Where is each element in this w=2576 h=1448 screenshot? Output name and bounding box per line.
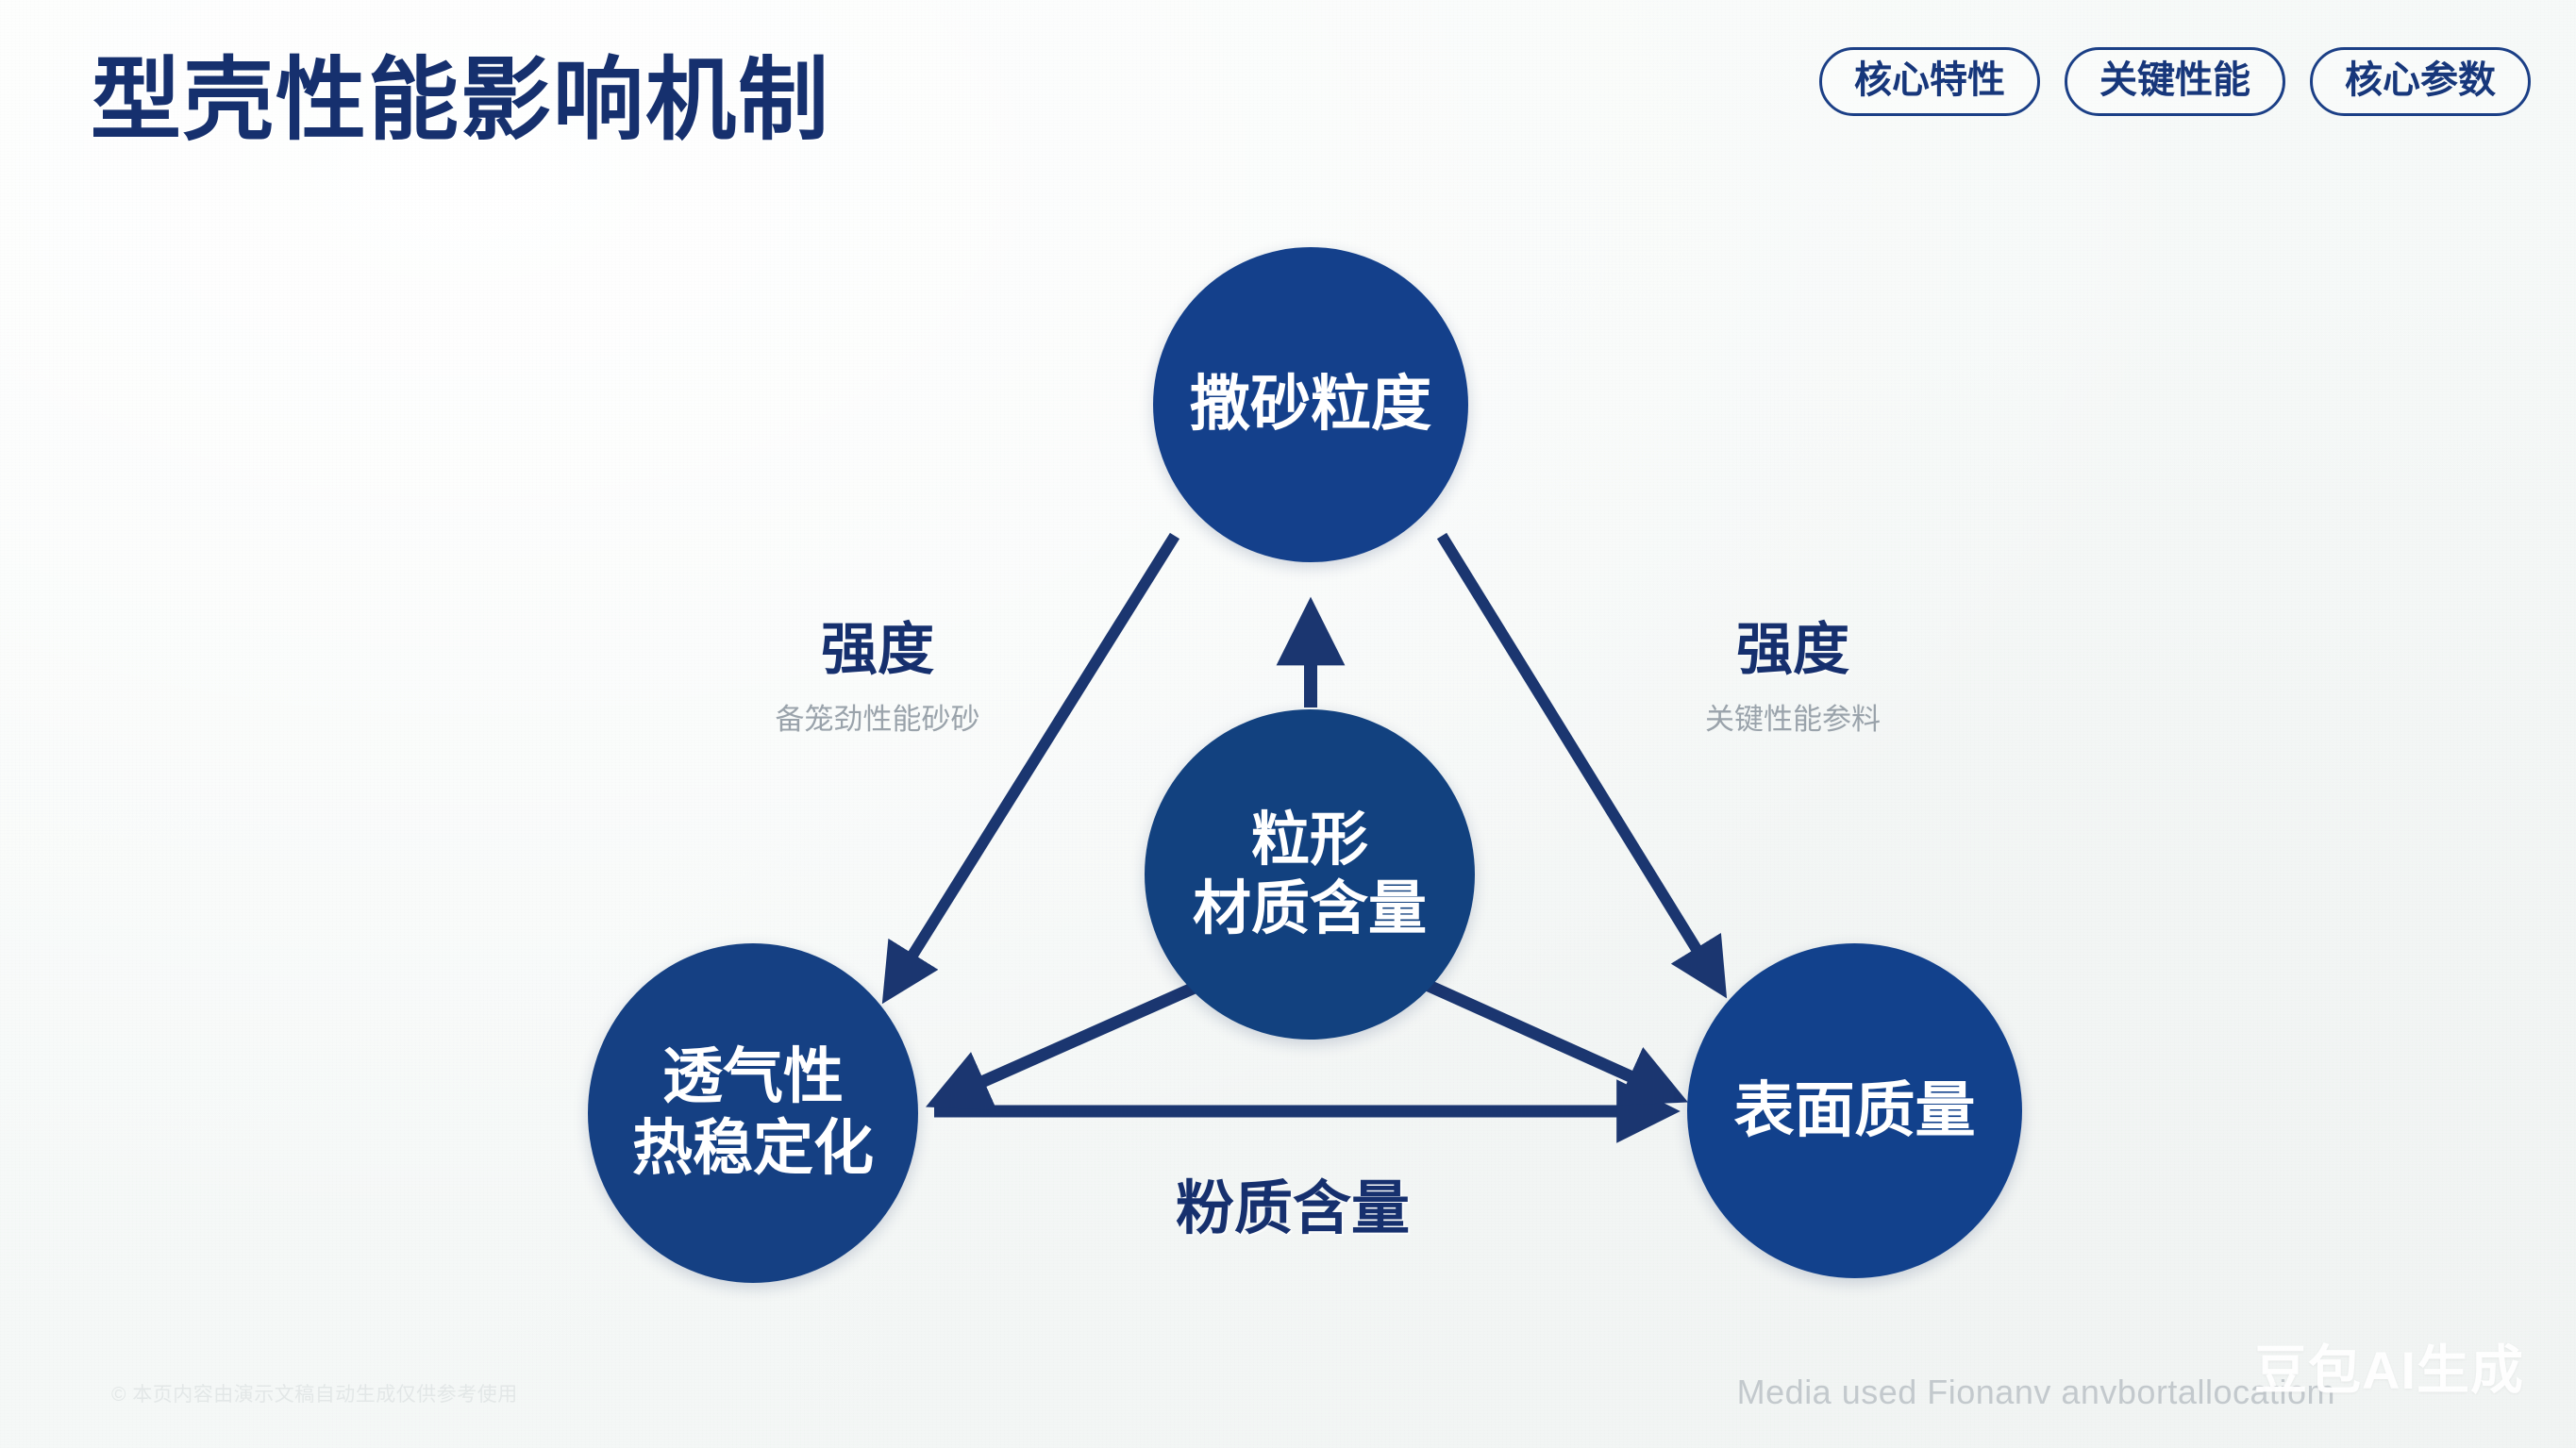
node-left-line-2: 热稳定化 bbox=[632, 1113, 874, 1185]
edge-label-left-main: 强度 bbox=[698, 604, 1057, 686]
copyright-notice: © 本页内容由演示文稿自动生成仅供参考使用 bbox=[111, 1379, 518, 1407]
ai-generated-watermark: 豆包AI生成 bbox=[2254, 1328, 2524, 1405]
node-top-line-1: 撒砂粒度 bbox=[1190, 369, 1431, 441]
node-right-line-1: 表面质量 bbox=[1734, 1075, 1976, 1147]
edge-label-right: 强度 关键性能参料 bbox=[1604, 604, 1982, 738]
node-grain-shape-material-content[interactable]: 粒形 材质含量 bbox=[1145, 709, 1475, 1040]
media-attribution-note: Media used Fionanv anvbortallocatiom bbox=[1737, 1373, 2335, 1412]
edge-label-right-sub: 关键性能参料 bbox=[1604, 695, 1982, 738]
edge-label-left: 强度 备笼劲性能砂砂 bbox=[698, 604, 1057, 738]
node-center-line-2: 材质含量 bbox=[1193, 874, 1427, 943]
edge-center-to-right bbox=[1427, 985, 1670, 1094]
node-left-line-1: 透气性 bbox=[662, 1041, 844, 1113]
slide-canvas: 型壳性能影响机制 核心特性 关键性能 核心参数 撒砂粒度 粒形 材质含量 bbox=[0, 0, 2576, 1448]
node-center-line-1: 粒形 bbox=[1251, 806, 1368, 874]
edge-center-to-left bbox=[944, 987, 1196, 1099]
node-permeability-thermal-stability[interactable]: 透气性 热稳定化 bbox=[588, 943, 918, 1283]
edge-label-bottom: 粉质含量 bbox=[1095, 1160, 1491, 1245]
edge-label-right-main: 强度 bbox=[1604, 604, 1982, 686]
edge-label-left-sub: 备笼劲性能砂砂 bbox=[698, 695, 1057, 738]
node-sand-grain-size[interactable]: 撒砂粒度 bbox=[1153, 247, 1468, 562]
node-surface-quality[interactable]: 表面质量 bbox=[1687, 943, 2022, 1278]
edge-label-bottom-main: 粉质含量 bbox=[1095, 1160, 1491, 1245]
